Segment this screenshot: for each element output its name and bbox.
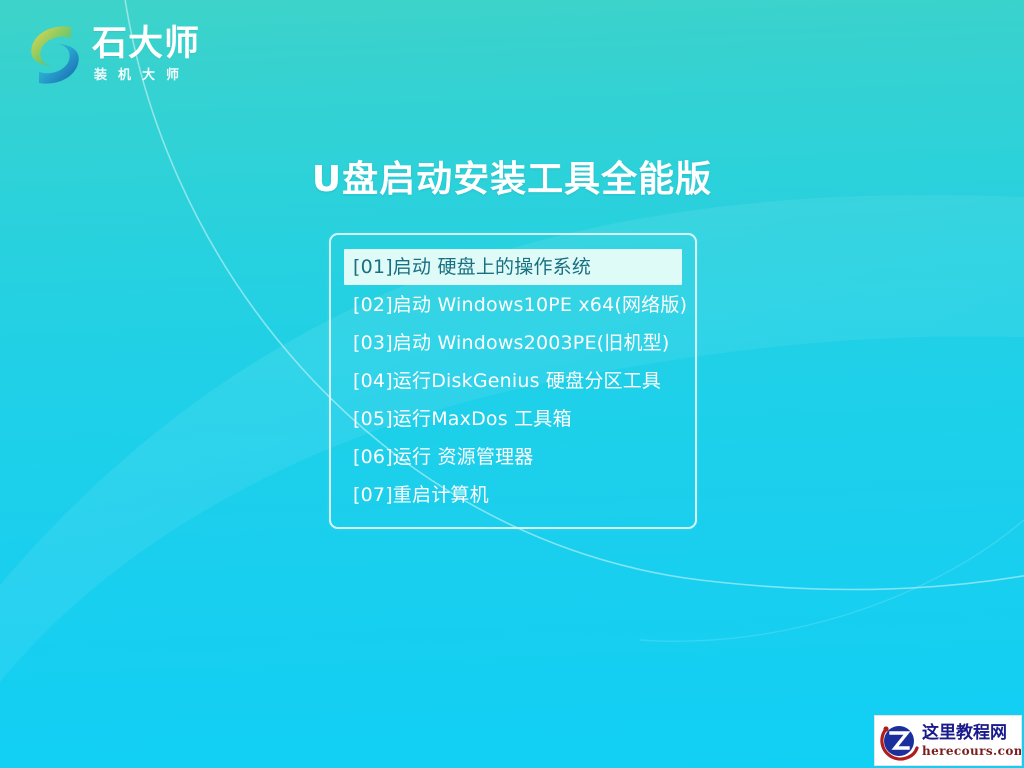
brand-subtitle: 装机大师 — [94, 68, 190, 84]
boot-menu-screen: 石大师 装机大师 U盘启动安装工具全能版 [01]启动 硬盘上的操作系统 [02… — [0, 0, 1024, 768]
boot-menu-panel: [01]启动 硬盘上的操作系统 [02]启动 Windows10PE x64(网… — [329, 233, 697, 529]
watermark-text: 这里教程网 herecours.com — [922, 725, 1022, 757]
brand-wordmark: 石大师 — [92, 25, 200, 63]
boot-menu-list: [01]启动 硬盘上的操作系统 [02]启动 Windows10PE x64(网… — [331, 249, 695, 513]
watermark-domain: herecours.com — [922, 745, 1022, 757]
menu-item-01[interactable]: [01]启动 硬盘上的操作系统 — [344, 249, 682, 285]
menu-item-03[interactable]: [03]启动 Windows2003PE(旧机型) — [344, 325, 682, 361]
watermark-site-name: 这里教程网 — [922, 725, 1022, 742]
z-circle-logo-icon — [878, 720, 920, 762]
stone-master-s-logo-icon — [24, 22, 86, 88]
page-title: U盘启动安装工具全能版 — [0, 158, 1024, 202]
menu-item-05[interactable]: [05]运行MaxDos 工具箱 — [344, 401, 682, 437]
menu-item-07[interactable]: [07]重启计算机 — [344, 477, 682, 513]
brand-logo: 石大师 装机大师 — [24, 16, 234, 94]
site-watermark: 这里教程网 herecours.com — [874, 715, 1022, 766]
menu-item-04[interactable]: [04]运行DiskGenius 硬盘分区工具 — [344, 363, 682, 399]
menu-item-06[interactable]: [06]运行 资源管理器 — [344, 439, 682, 475]
menu-item-02[interactable]: [02]启动 Windows10PE x64(网络版) — [344, 287, 682, 323]
